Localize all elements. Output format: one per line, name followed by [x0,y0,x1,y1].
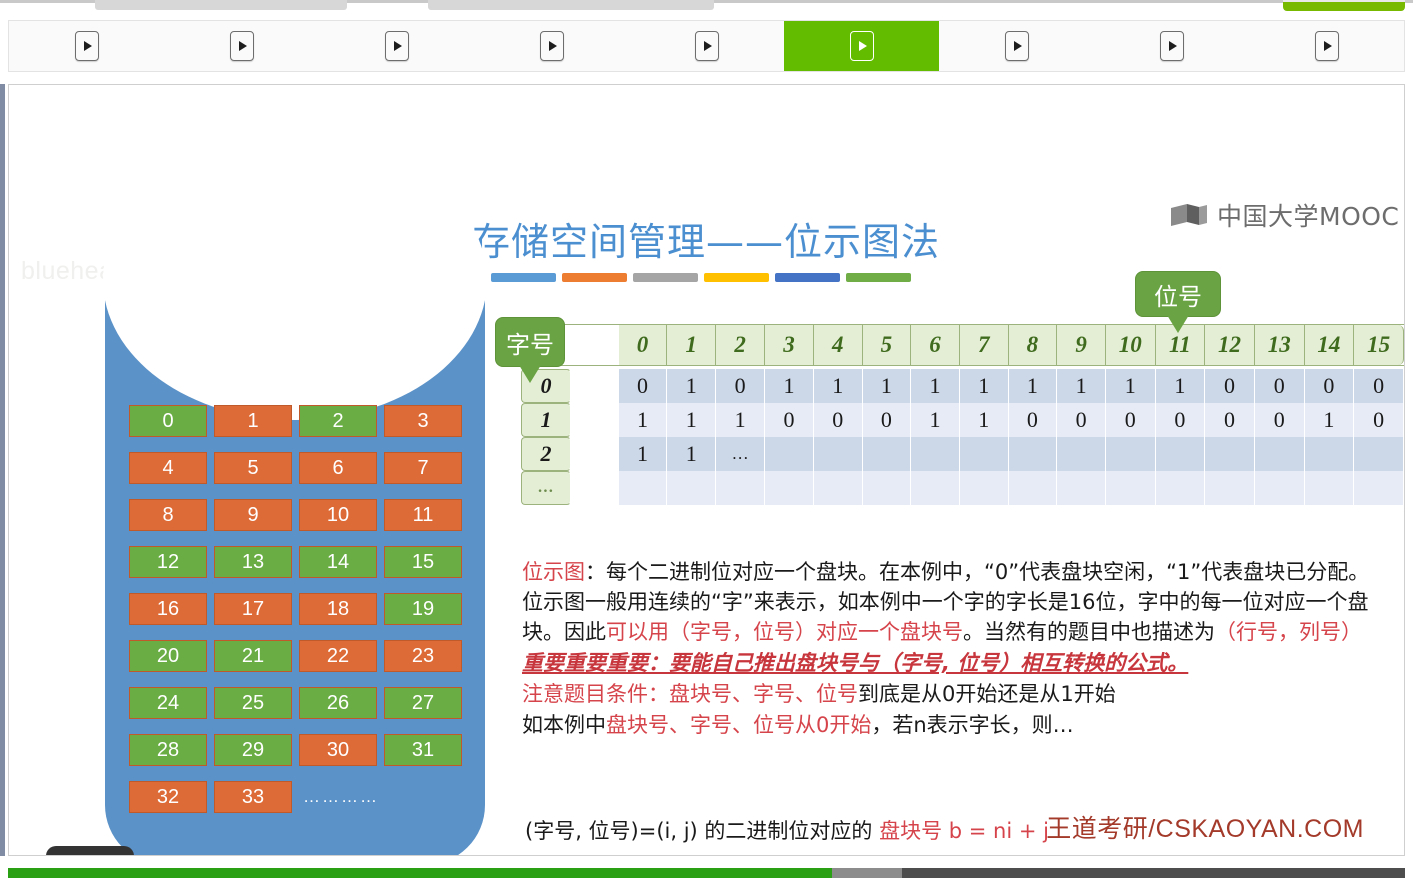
bitmap-cell-0-5: 1 [863,369,912,403]
disk-block-18: 18 [299,593,377,625]
play-icon [1169,41,1177,51]
lesson-tab-play-button-7[interactable] [1160,31,1184,61]
bitmap-cell-1-8: 0 [1009,403,1058,437]
title-underline-bars [491,273,911,282]
bitmap-cell-1-3: 0 [765,403,814,437]
bitmap-cell-2-10 [1106,437,1156,471]
disk-block-0: 0 [129,405,207,437]
bitmap-cell-0-14: 0 [1305,369,1355,403]
bitmap-col-header-13: 13 [1255,325,1305,365]
lesson-tab-play-button-3[interactable] [540,31,564,61]
bitmap-row-label-2: 2 [521,437,571,471]
p4-terms: 盘块号、字号、位号从0开始 [606,713,871,737]
p1-alt: （行号，列号） [1215,620,1362,644]
disk-block-15: 15 [384,546,462,578]
bitmap-cell-3-13 [1255,471,1305,505]
chrome-tab-2[interactable] [428,0,714,10]
mooc-logo-text: 中国大学MOOC [1217,197,1399,233]
bitmap-cell-3-10 [1106,471,1156,505]
play-icon [859,41,867,51]
disk-block-19: 19 [384,593,462,625]
bitmap-cell-0-11: 1 [1156,369,1206,403]
bitmap-row-label-1: 1 [521,403,571,437]
bitmap-cell-0-9: 1 [1057,369,1106,403]
bitmap-col-header-6: 6 [911,325,960,365]
disk-block-21: 21 [214,640,292,672]
bitmap-cell-2-8 [1009,437,1058,471]
play-icon [1014,41,1022,51]
stage-left-accent-bar [0,84,5,856]
bitmap-cell-3-1 [667,471,716,505]
disk-block-17: 17 [214,593,292,625]
disk-block-5: 5 [214,452,292,484]
lesson-tab-6[interactable] [939,21,1094,71]
bitmap-cell-3-6 [911,471,960,505]
bitmap-cell-3-4 [814,471,863,505]
bitmap-cell-3-2 [716,471,765,505]
lesson-tab-7[interactable] [1094,21,1249,71]
bitmap-cell-2-0: 1 [619,437,668,471]
page-title: 存储空间管理——位示图法 [472,211,942,266]
p1-term: 位示图 [522,560,585,584]
disk-block-27: 27 [384,687,462,719]
title-rule-bar-1 [562,273,627,282]
bitmap-cell-0-7: 1 [960,369,1009,403]
disk-block-22: 22 [299,640,377,672]
progress-played [8,868,832,878]
bitmap-cell-2-7 [960,437,1009,471]
lesson-tab-play-button-5[interactable] [850,31,874,61]
bitmap-cell-0-10: 1 [1106,369,1156,403]
play-icon [704,41,712,51]
disk-block-26: 26 [299,687,377,719]
disk-block-14: 14 [299,546,377,578]
title-rule-bar-3 [704,273,769,282]
disk-block-11: 11 [384,499,462,531]
lesson-tab-4[interactable] [629,21,784,71]
lesson-tab-0[interactable] [9,21,164,71]
bitmap-row: … [521,471,1404,505]
mooc-book-icon [1169,202,1209,228]
bitmap-row-label-3: … [521,471,571,505]
bitmap-row: 00101111111110000 [521,369,1404,403]
bitmap-cell-2-12 [1205,437,1255,471]
bitmap-cell-1-15: 0 [1354,403,1404,437]
disk-block-25: 25 [214,687,292,719]
lesson-tab-play-button-0[interactable] [75,31,99,61]
disk-block-33: 33 [214,781,292,813]
bitmap-cell-3-5 [863,471,912,505]
bitmap-cell-1-1: 1 [667,403,716,437]
bitmap-cell-3-9 [1057,471,1106,505]
p1-tail: 。当然有的题目中也描述为 [963,620,1215,644]
bitmap-cell-0-6: 1 [911,369,960,403]
lesson-tab-play-button-1[interactable] [230,31,254,61]
bitmap-cell-1-13: 0 [1255,403,1305,437]
slide-body-text: 位示图：每个二进制位对应一个盘块。在本例中，“0”代表盘块空闲，“1”代表盘块已… [522,557,1377,741]
bitmap-cell-2-1: 1 [667,437,716,471]
bitmap-header-row: 0123456789101112131415 [521,325,1404,365]
bitmap-row: 11110001100000010 [521,403,1404,437]
disk-block-23: 23 [384,640,462,672]
disk-block-4: 4 [129,452,207,484]
bitmap-cell-2-14 [1305,437,1355,471]
disk-block-grid: 0123456789101112131415161718192021222324… [129,405,469,813]
bitmap-col-header-12: 12 [1205,325,1255,365]
callout-row-tail [519,365,541,383]
bitmap-col-header-15: 15 [1354,325,1404,365]
bitmap-cell-1-5: 0 [863,403,912,437]
top-chrome-strip [0,0,1413,16]
bitmap-row: 211… [521,437,1404,471]
paragraph-4: 如本例中盘块号、字号、位号从0开始，若n表示字长，则… [522,710,1377,740]
lesson-tab-3[interactable] [474,21,629,71]
lesson-tab-bar[interactable] [8,20,1405,72]
bitmap-cell-0-8: 1 [1009,369,1058,403]
disk-block-20: 20 [129,640,207,672]
paragraph-3: 注意题目条件：盘块号、字号、位号到底是从0开始还是从1开始 [522,679,1377,709]
bitmap-cell-0-13: 0 [1255,369,1305,403]
disk-block-13: 13 [214,546,292,578]
top-green-button-cap [1283,0,1405,2]
bitmap-col-header-2: 2 [716,325,765,365]
bitmap-cell-0-15: 0 [1354,369,1404,403]
callout-row-label: 字号 [495,317,565,367]
paragraph-2-important: 重要重要重要：要能自己推出盘块号与（字号, 位号）相互转换的公式。 [522,648,1377,678]
disk-block-2: 2 [299,405,377,437]
disk-block-30: 30 [299,734,377,766]
p4-tail: ，若n表示字长，则… [871,713,1073,737]
disk-block-8: 8 [129,499,207,531]
bitmap-col-header-10: 10 [1106,325,1156,365]
lesson-tab-play-button-4[interactable] [695,31,719,61]
bitmap-cell-3-15 [1354,471,1404,505]
paragraph-1: 位示图：每个二进制位对应一个盘块。在本例中，“0”代表盘块空闲，“1”代表盘块已… [522,557,1377,647]
lesson-tab-play-button-6[interactable] [1005,31,1029,61]
video-progress-bar[interactable] [8,868,1405,878]
title-rule-bar-4 [775,273,840,282]
p1-highlight: 可以用（字号，位号）对应一个盘块号 [606,620,963,644]
bitmap-cell-2-4 [814,437,863,471]
bitmap-cell-1-10: 0 [1106,403,1156,437]
disk-block-1: 1 [214,405,292,437]
bitmap-cell-3-7 [960,471,1009,505]
p4-lead: 如本例中 [522,713,606,737]
callout-col-label: 位号 [1135,271,1221,317]
disk-block-31: 31 [384,734,462,766]
lesson-tab-1[interactable] [164,21,319,71]
play-icon [394,41,402,51]
play-icon [1324,41,1332,51]
disk-block-32: 32 [129,781,207,813]
bitmap-cell-0-4: 1 [814,369,863,403]
formula-result: 盘块号 b = ni + j [879,819,1049,843]
bitmap-table: 0123456789101112131415001011111111100001… [521,325,1404,505]
bitmap-cell-0-2: 0 [716,369,765,403]
video-stage[interactable]: blueheart2019 存储空间管理——位示图法 中国大学MOOC 0123… [8,84,1405,856]
bitmap-col-header-8: 8 [1009,325,1058,365]
bitmap-row-gap [571,471,619,505]
bitmap-cell-1-7: 1 [960,403,1009,437]
bitmap-cell-3-3 [765,471,814,505]
bitmap-row-gap [571,403,619,437]
callout-col-tail [1167,315,1189,333]
bitmap-cell-1-14: 1 [1305,403,1355,437]
bitmap-cell-3-0 [619,471,668,505]
lesson-tab-2[interactable] [319,21,474,71]
bitmap-col-header-14: 14 [1305,325,1355,365]
formula-prefix: (字号, 位号)=(i, j) 的二进制位对应的 [525,819,879,843]
bitmap-cell-0-1: 1 [667,369,716,403]
disk-block-10: 10 [299,499,377,531]
lesson-tab-play-button-8[interactable] [1315,31,1339,61]
bitmap-cell-3-14 [1305,471,1355,505]
bitmap-cell-3-12 [1205,471,1255,505]
bitmap-col-header-5: 5 [863,325,912,365]
bitmap-cell-0-3: 1 [765,369,814,403]
bitmap-cell-2-3 [765,437,814,471]
bitmap-col-header-4: 4 [814,325,863,365]
title-rule-bar-2 [633,273,698,282]
bitmap-cell-1-6: 1 [911,403,960,437]
bitmap-cell-1-4: 0 [814,403,863,437]
bitmap-cell-3-11 [1156,471,1206,505]
disk-block-28: 28 [129,734,207,766]
disk-block-ellipsis: ………… [299,781,377,813]
lesson-tab-8[interactable] [1249,21,1404,71]
bitmap-cell-1-0: 1 [619,403,668,437]
bitmap-col-header-9: 9 [1057,325,1106,365]
disk-block-7: 7 [384,452,462,484]
p3-lead: 注意题目条件： [522,682,669,706]
bitmap-cell-3-8 [1009,471,1058,505]
bitmap-col-header-0: 0 [619,325,668,365]
disk-block-29: 29 [214,734,292,766]
bitmap-cell-1-11: 0 [1156,403,1206,437]
bitmap-cell-1-9: 0 [1057,403,1106,437]
callout-col-label-text: 位号 [1154,277,1202,312]
lesson-tab-5[interactable] [784,21,939,71]
mooc-logo: 中国大学MOOC [1169,197,1399,233]
top-green-button[interactable] [1283,0,1405,11]
bitmap-cell-2-5 [863,437,912,471]
bitmap-row-gap [571,369,619,403]
bitmap-cell-0-0: 0 [619,369,668,403]
bitmap-cell-2-9 [1057,437,1106,471]
bitmap-cell-1-2: 1 [716,403,765,437]
p3-terms: 盘块号、字号、位号 [669,682,858,706]
bitmap-col-header-3: 3 [765,325,814,365]
bitmap-cell-0-12: 0 [1205,369,1255,403]
bitmap-cell-2-2: … [716,437,765,471]
bitmap-cell-2-15 [1354,437,1404,471]
disk-block-24: 24 [129,687,207,719]
bitmap-cell-1-12: 0 [1205,403,1255,437]
bitmap-cell-2-13 [1255,437,1305,471]
title-rule-bar-5 [846,273,911,282]
title-rule-bar-0 [491,273,556,282]
slide-canvas: blueheart2019 存储空间管理——位示图法 中国大学MOOC 0123… [9,85,1404,855]
bitmap-col-header-7: 7 [960,325,1009,365]
bitmap-cell-2-6 [911,437,960,471]
footer-brand: 王道考研/CSKAOYAN.COM [1046,809,1364,845]
play-icon [239,41,247,51]
bitmap-row-gap [571,437,619,471]
bitmap-table-wrap: 0123456789101112131415001011111111100001… [521,325,1404,505]
disk-block-9: 9 [214,499,292,531]
disk-block-12: 12 [129,546,207,578]
disk-block-6: 6 [299,452,377,484]
play-icon [549,41,557,51]
play-icon [84,41,92,51]
disk-block-16: 16 [129,593,207,625]
callout-row-label-text: 字号 [506,325,554,360]
disk-block-3: 3 [384,405,462,437]
bitmap-cell-2-11 [1156,437,1206,471]
play-overlay-button[interactable] [46,846,134,856]
chrome-tab-1[interactable] [95,0,347,10]
lesson-tab-play-button-2[interactable] [385,31,409,61]
bitmap-col-header-1: 1 [667,325,716,365]
p3-tail: 到底是从0开始还是从1开始 [858,682,1116,706]
